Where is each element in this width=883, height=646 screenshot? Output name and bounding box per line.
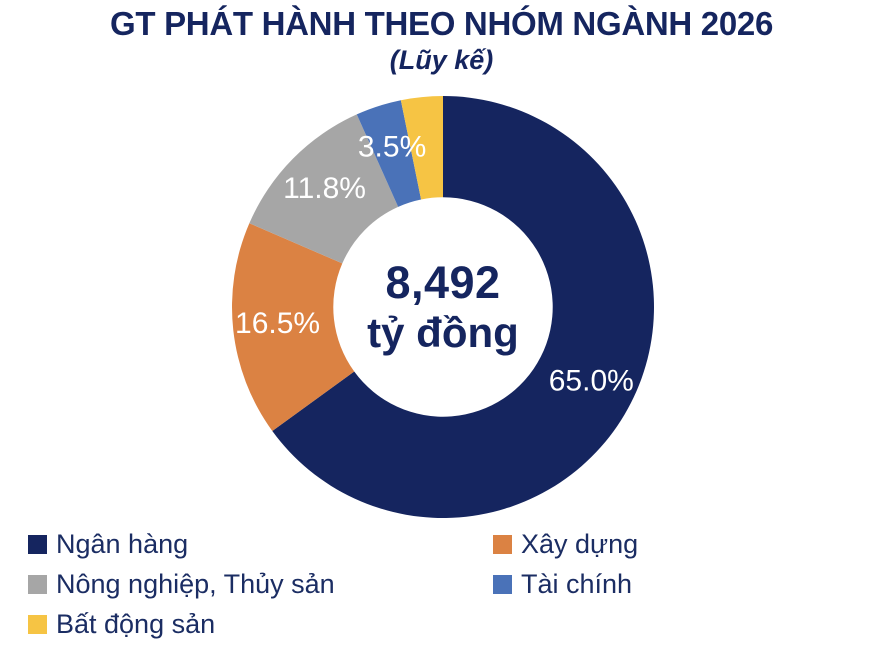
legend-column-right: Xây dựngTài chính <box>493 524 638 604</box>
chart-subtitle: (Lũy kế) <box>0 45 883 76</box>
legend-swatch-icon <box>493 575 512 594</box>
legend-swatch-icon <box>493 535 512 554</box>
legend-swatch-icon <box>28 615 47 634</box>
legend-item[interactable]: Ngân hàng <box>28 524 335 564</box>
legend-item[interactable]: Bất động sản <box>28 604 335 644</box>
legend-column-left: Ngân hàngNông nghiệp, Thủy sảnBất động s… <box>28 524 335 644</box>
chart-title: GT PHÁT HÀNH THEO NHÓM NGÀNH 2026 <box>0 6 883 43</box>
slice-label: 16.5% <box>235 307 320 340</box>
legend-swatch-icon <box>28 535 47 554</box>
title-block: GT PHÁT HÀNH THEO NHÓM NGÀNH 2026 (Lũy k… <box>0 6 883 76</box>
legend-label: Tài chính <box>521 571 632 598</box>
legend-item[interactable]: Nông nghiệp, Thủy sản <box>28 564 335 604</box>
slice-label: 11.8% <box>283 172 366 205</box>
legend-item[interactable]: Tài chính <box>493 564 638 604</box>
legend-swatch-icon <box>28 575 47 594</box>
chart-root: GT PHÁT HÀNH THEO NHÓM NGÀNH 2026 (Lũy k… <box>0 0 883 646</box>
donut-chart: 65.0%16.5%11.8%3.5% <box>232 96 654 518</box>
donut-svg: 65.0%16.5%11.8%3.5% <box>232 96 654 518</box>
legend-label: Nông nghiệp, Thủy sản <box>56 571 335 598</box>
chart-legend: Ngân hàngNông nghiệp, Thủy sảnBất động s… <box>0 524 883 646</box>
slice-label: 65.0% <box>549 364 634 397</box>
legend-label: Ngân hàng <box>56 531 188 558</box>
legend-label: Xây dựng <box>521 531 638 558</box>
legend-label: Bất động sản <box>56 611 215 638</box>
slice-label: 3.5% <box>358 130 426 163</box>
legend-item[interactable]: Xây dựng <box>493 524 638 564</box>
